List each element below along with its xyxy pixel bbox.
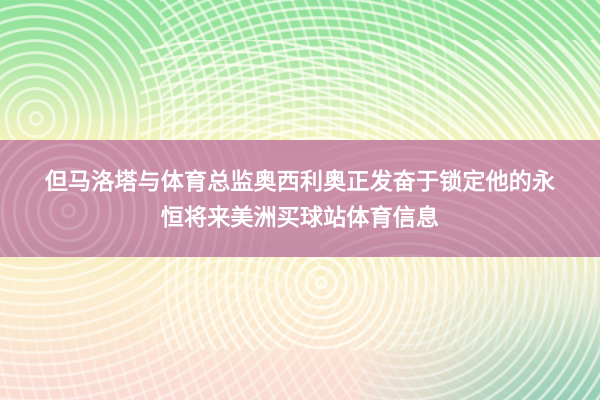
headline-block: 但马洛塔与体育总监奥西利奥正发奋于锁定他的永 恒将来美洲买球站体育信息 <box>0 140 600 257</box>
bottom-right-teal-wave-pattern <box>350 240 600 400</box>
headline-line-2: 恒将来美洲买球站体育信息 <box>161 199 439 235</box>
banner-image: 但马洛塔与体育总监奥西利奥正发奋于锁定他的永 恒将来美洲买球站体育信息 <box>0 0 600 400</box>
headline-line-1: 但马洛塔与体育总监奥西利奥正发奋于锁定他的永 <box>45 163 555 199</box>
